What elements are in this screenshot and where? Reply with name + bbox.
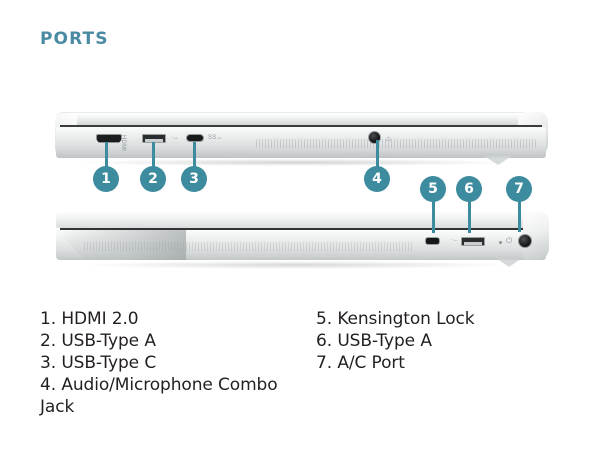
legend-item-2: 2. USB-Type A bbox=[40, 330, 300, 352]
legend-item-3: 3. USB-Type C bbox=[40, 352, 300, 374]
callout-5-stem bbox=[432, 200, 435, 233]
callout-7-stem bbox=[518, 200, 521, 232]
laptop-shadow bbox=[86, 261, 506, 269]
callout-2-bubble[interactable]: 2 bbox=[140, 166, 166, 192]
ports-diagram-page: PORTS HDMI ∙↔ SS↔ ⌂ 1 bbox=[0, 0, 600, 450]
ac-power-port bbox=[518, 234, 532, 248]
status-led-1 bbox=[499, 241, 502, 244]
legend-item-6: 6. USB-Type A bbox=[316, 330, 576, 352]
legend-item-5: 5. Kensington Lock bbox=[316, 308, 576, 330]
page-title: PORTS bbox=[40, 29, 109, 49]
hdmi-port bbox=[96, 134, 122, 143]
headphone-glyph: ⌂ bbox=[386, 135, 391, 143]
top-laptop-illustration: HDMI ∙↔ SS↔ ⌂ 1 2 3 4 bbox=[0, 108, 600, 178]
usb-trident-glyph: ∙← bbox=[451, 237, 459, 243]
callout-7-bubble[interactable]: 7 bbox=[506, 176, 532, 202]
hdmi-glyph: HDMI bbox=[120, 135, 126, 151]
usb-type-a-port bbox=[461, 237, 485, 246]
laptop-vent-texture bbox=[256, 139, 536, 148]
callout-1-bubble[interactable]: 1 bbox=[93, 166, 119, 192]
callout-1-stem bbox=[105, 142, 108, 168]
laptop-body-left-view: HDMI ∙↔ SS↔ ⌂ bbox=[56, 112, 546, 164]
callout-4-stem bbox=[376, 140, 379, 168]
kensington-lock-slot bbox=[425, 237, 440, 245]
legend-item-7: 7. A/C Port bbox=[316, 352, 576, 374]
callout-4-bubble[interactable]: 4 bbox=[364, 166, 390, 192]
callout-2-stem bbox=[152, 142, 155, 168]
laptop-lid bbox=[56, 112, 546, 125]
usb-c-glyph: SS↔ bbox=[208, 135, 223, 141]
bottom-laptop-illustration: 5 6 7 ∙← ⏻ bbox=[0, 205, 600, 285]
callout-6-bubble[interactable]: 6 bbox=[456, 176, 482, 202]
laptop-lid bbox=[56, 211, 546, 228]
legend-item-4: 4. Audio/Microphone Combo Jack bbox=[40, 374, 300, 418]
laptop-vent-texture bbox=[84, 242, 414, 251]
usb-glyph: ∙↔ bbox=[171, 135, 179, 141]
power-glyph: ⏻ bbox=[506, 237, 513, 245]
laptop-shadow bbox=[80, 159, 510, 166]
legend-column-left: 1. HDMI 2.0 2. USB-Type A 3. USB-Type C … bbox=[40, 308, 300, 418]
callout-6-stem bbox=[468, 200, 471, 233]
legend-column-right: 5. Kensington Lock 6. USB-Type A 7. A/C … bbox=[316, 308, 576, 374]
laptop-body-right-view: ∙← ⏻ bbox=[56, 211, 546, 267]
callout-3-bubble[interactable]: 3 bbox=[181, 166, 207, 192]
callout-5-bubble[interactable]: 5 bbox=[420, 176, 446, 202]
legend-item-1: 1. HDMI 2.0 bbox=[40, 308, 300, 330]
audio-combo-jack bbox=[368, 131, 381, 144]
callout-3-stem bbox=[193, 142, 196, 168]
usb-type-c-port bbox=[186, 134, 204, 142]
